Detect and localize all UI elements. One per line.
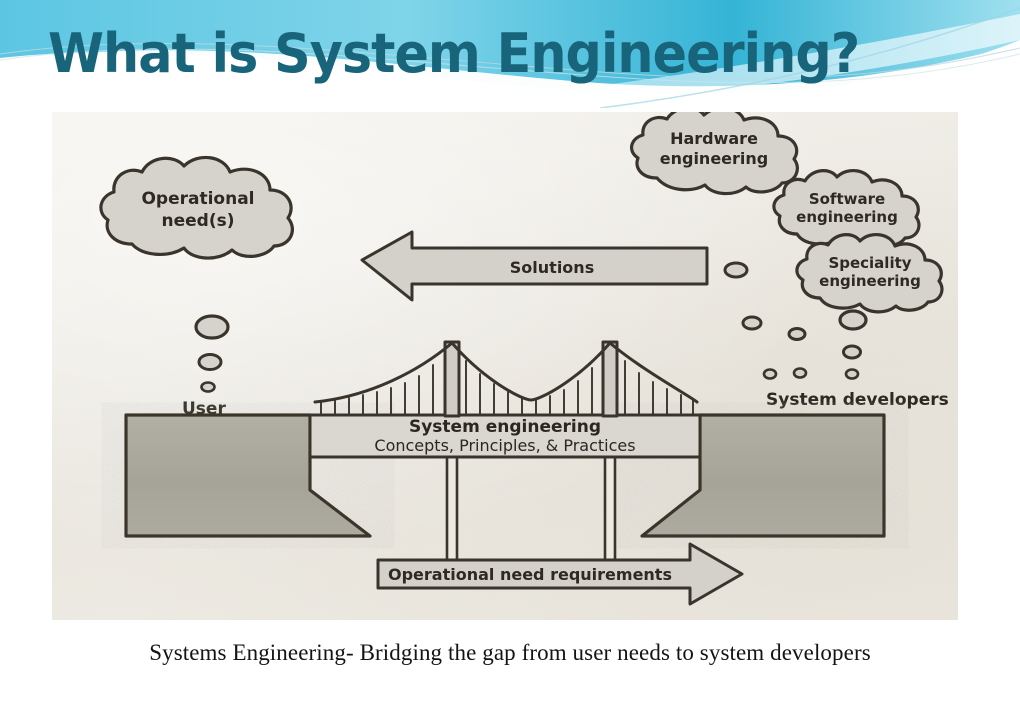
page-title: What is System Engineering? bbox=[48, 22, 859, 85]
cloud-label-hardware-line1: Hardware bbox=[670, 129, 758, 148]
slide: What is System Engineering? bbox=[0, 0, 1020, 723]
operational-need-requirements-arrow: Operational need requirements bbox=[378, 544, 742, 604]
system-developers-label: System developers bbox=[766, 390, 949, 410]
cloud-label-hardware-line2: engineering bbox=[660, 149, 769, 168]
operational-need-requirements-arrow-label: Operational need requirements bbox=[388, 565, 672, 584]
caption: Systems Engineering- Bridging the gap fr… bbox=[0, 640, 1020, 666]
bridge-piers bbox=[447, 457, 615, 567]
cloud-label-speciality-line1: Speciality bbox=[828, 254, 911, 272]
cloud-operational-need: Operational need(s) bbox=[101, 157, 293, 258]
cloud-label-software-line2: engineering bbox=[796, 208, 898, 226]
diagram-image-panel: Operational need(s) User Solutions bbox=[52, 112, 958, 620]
thought-bubbles-user bbox=[196, 316, 228, 392]
cloud-label-software-line1: Software bbox=[809, 190, 885, 208]
cloud-label-operational-need-line1: Operational bbox=[141, 189, 254, 209]
cloud-label-speciality-line2: engineering bbox=[819, 272, 921, 290]
solutions-arrow: Solutions bbox=[362, 232, 707, 300]
solutions-arrow-label: Solutions bbox=[510, 258, 594, 277]
cloud-speciality-engineering: Speciality engineering bbox=[797, 235, 942, 312]
thought-bubbles-system-developers bbox=[743, 311, 866, 379]
bridge-deck-label-line1: System engineering bbox=[409, 417, 601, 437]
cloud-label-operational-need-line2: need(s) bbox=[162, 211, 235, 231]
cloud-hardware-engineering: Hardware engineering bbox=[632, 112, 798, 194]
system-engineering-bridge-diagram: Operational need(s) User Solutions bbox=[52, 112, 958, 620]
thought-bubble-floating bbox=[725, 263, 747, 277]
bridge-deck-label-line2: Concepts, Principles, & Practices bbox=[374, 436, 635, 455]
